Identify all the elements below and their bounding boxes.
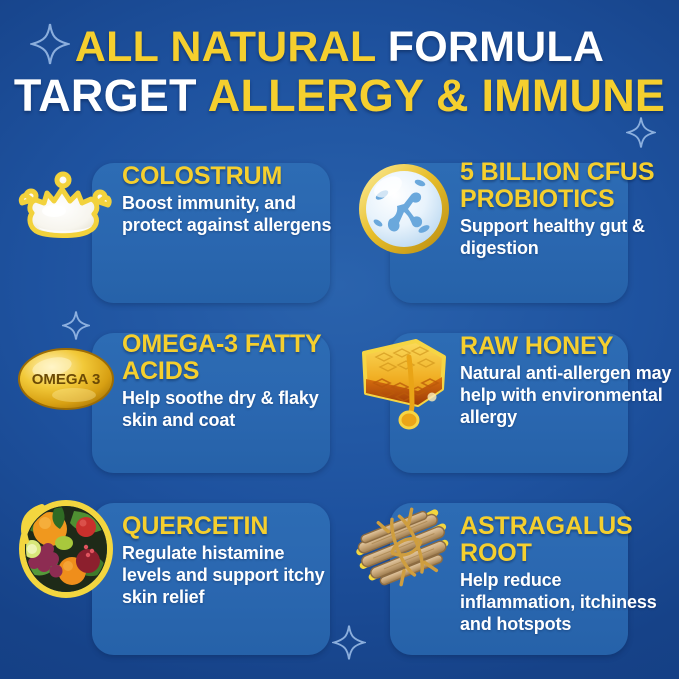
- fruit-basket-icon: [14, 497, 118, 601]
- card-desc-raw-honey: Natural anti-allergen may help with envi…: [460, 362, 675, 429]
- card-text-astragalus-root: ASTRAGALUS ROOT Help reduce inflammation…: [460, 513, 675, 635]
- milk-splash-icon: [14, 157, 118, 261]
- headline-target: TARGET: [14, 70, 197, 121]
- benefit-card-grid: COLOSTRUM Boost immunity, and protect ag…: [0, 155, 679, 665]
- probiotic-bacteria-icon: [352, 157, 456, 261]
- card-title-quercetin: QUERCETIN: [122, 513, 337, 540]
- card-desc-omega-3: Help soothe dry & flaky skin and coat: [122, 387, 337, 432]
- headline-line-1: ALL NATURAL FORMULA: [0, 26, 679, 70]
- card-title-probiotics: 5 BILLION CFUS PROBIOTICS: [460, 159, 675, 213]
- headline-line-2: TARGET ALLERGY & IMMUNE: [0, 73, 679, 119]
- card-title-astragalus-root: ASTRAGALUS ROOT: [460, 513, 675, 567]
- root-bundle-icon: [352, 497, 456, 601]
- sparkle-omega-icon: [62, 310, 90, 341]
- sparkle-top-right-icon: [626, 116, 656, 149]
- headline-allergy-immune: ALLERGY & IMMUNE: [208, 70, 665, 121]
- card-text-raw-honey: RAW HONEY Natural anti-allergen may help…: [460, 333, 675, 429]
- card-desc-colostrum: Boost immunity, and protect against alle…: [122, 192, 337, 237]
- card-title-omega-3: OMEGA-3 FATTY ACIDS: [122, 331, 337, 385]
- omega-capsule-label: OMEGA 3: [32, 371, 101, 388]
- card-desc-quercetin: Regulate histamine levels and support it…: [122, 542, 337, 609]
- headline-all-natural: ALL NATURAL: [75, 23, 376, 71]
- page-title: ALL NATURAL FORMULA TARGET ALLERGY & IMM…: [0, 26, 679, 119]
- honeycomb-icon: [352, 327, 456, 431]
- infographic-page: ALL NATURAL FORMULA TARGET ALLERGY & IMM…: [0, 0, 679, 679]
- card-text-probiotics: 5 BILLION CFUS PROBIOTICS Support health…: [460, 159, 675, 259]
- omega-3-softgel-icon: OMEGA 3: [14, 327, 118, 431]
- headline-formula: FORMULA: [388, 23, 604, 71]
- card-desc-probiotics: Support healthy gut & digestion: [460, 215, 675, 260]
- sparkle-bottom-mid-icon: [332, 624, 366, 661]
- card-text-colostrum: COLOSTRUM Boost immunity, and protect ag…: [122, 163, 337, 236]
- card-desc-astragalus-root: Help reduce inflammation, itchiness and …: [460, 569, 675, 636]
- card-title-raw-honey: RAW HONEY: [460, 333, 675, 360]
- card-title-colostrum: COLOSTRUM: [122, 163, 337, 190]
- card-text-omega-3: OMEGA-3 FATTY ACIDS Help soothe dry & fl…: [122, 331, 337, 431]
- card-text-quercetin: QUERCETIN Regulate histamine levels and …: [122, 513, 337, 609]
